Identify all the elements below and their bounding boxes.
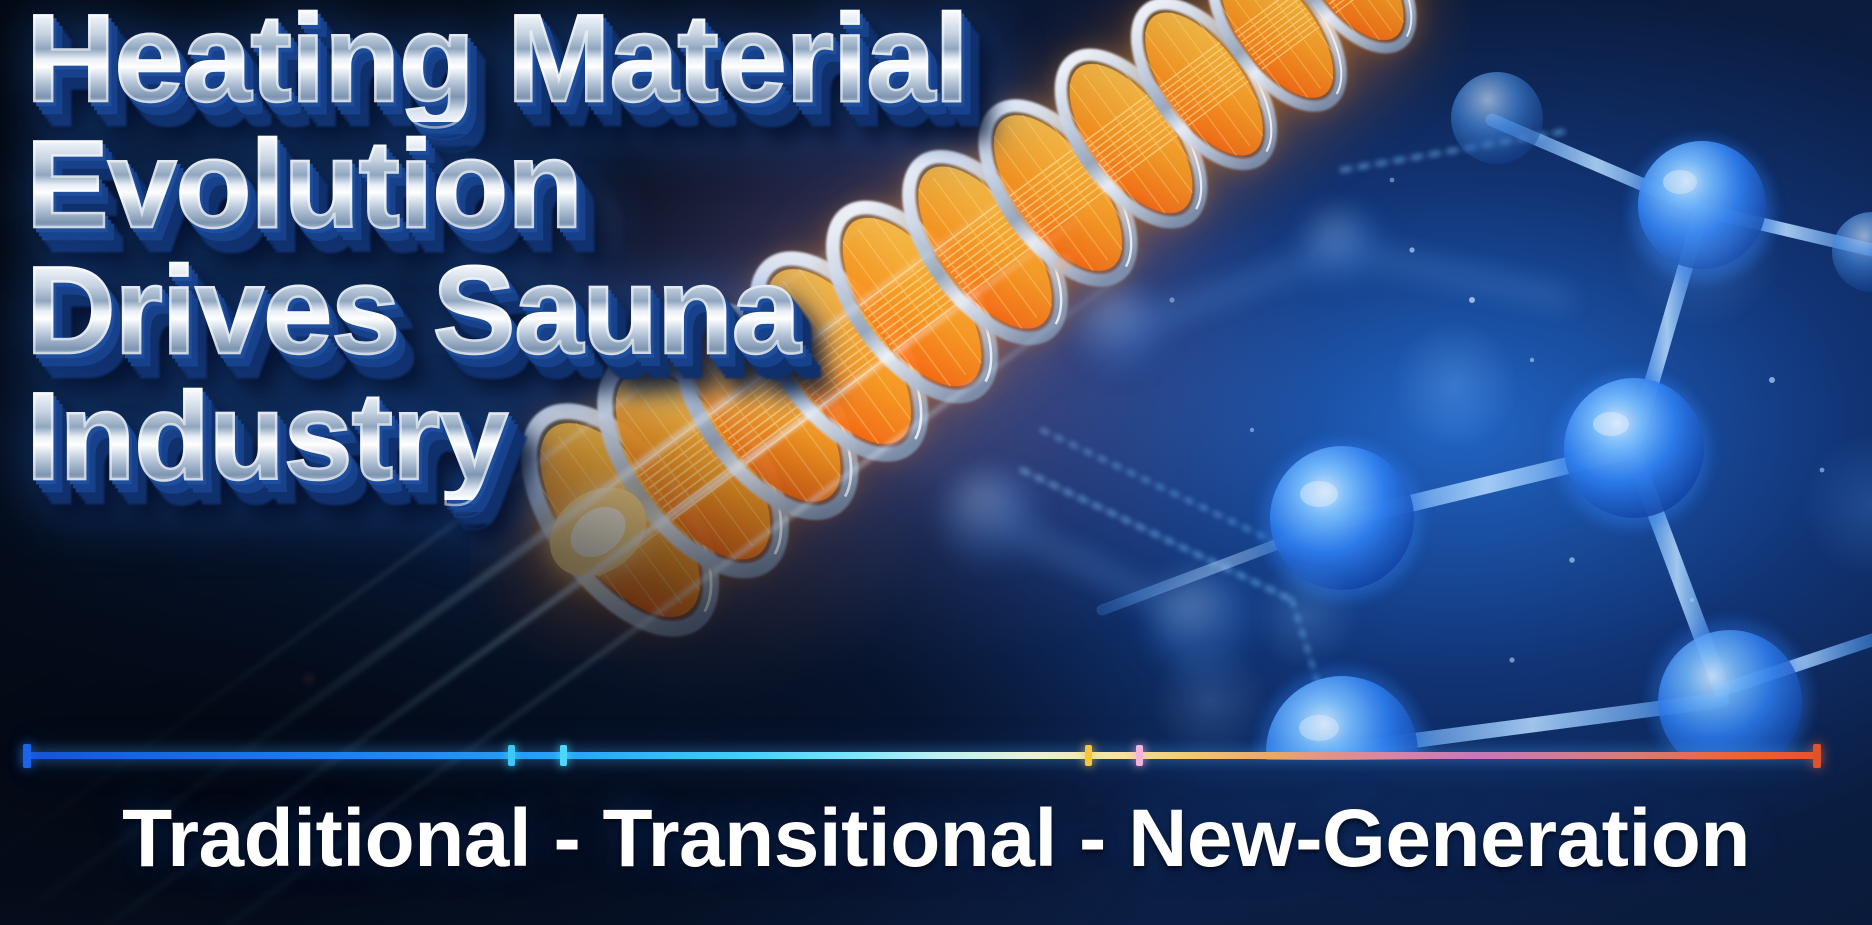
page-title: Heating Material Evolution Drives Sauna … xyxy=(26,0,1086,500)
title-line-4: Industry xyxy=(26,374,1086,500)
timeline-caption: Traditional - Transitional - New-Generat… xyxy=(0,791,1872,887)
timeline-tick-traditional-end xyxy=(508,745,515,766)
timeline-left-cap xyxy=(23,744,31,768)
evolution-timeline xyxy=(0,744,1872,768)
timeline-tick-transitional-start xyxy=(560,745,567,766)
title-line-1: Heating Material xyxy=(26,0,1086,122)
timeline-tick-transitional-end xyxy=(1085,745,1092,766)
timeline-right-cap xyxy=(1813,744,1821,768)
timeline-tick-new-generation xyxy=(1136,745,1143,766)
banner-graphic: Heating Material Evolution Drives Sauna … xyxy=(0,0,1872,925)
timeline-gradient-bar xyxy=(27,752,1817,759)
title-line-2: Evolution xyxy=(26,122,1086,248)
title-line-3: Drives Sauna xyxy=(26,248,1086,374)
